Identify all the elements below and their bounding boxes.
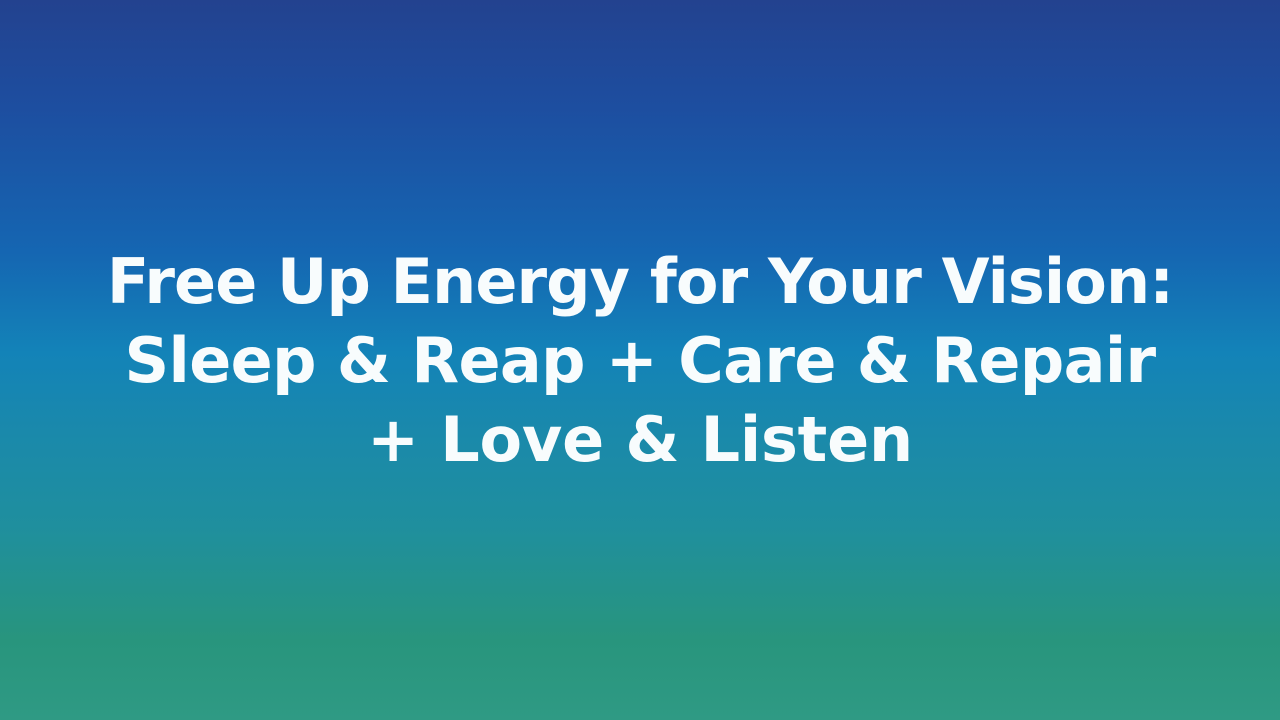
- page-title: Free Up Energy for Your Vision: Sleep & …: [90, 242, 1190, 479]
- headline-line-1: Free Up Energy for Your Vision:: [90, 242, 1190, 321]
- headline-line-2: Sleep & Reap + Care & Repair: [90, 321, 1190, 400]
- slide-canvas: Free Up Energy for Your Vision: Sleep & …: [0, 0, 1280, 720]
- headline-line-3: + Love & Listen: [90, 400, 1190, 479]
- headline-block: Free Up Energy for Your Vision: Sleep & …: [0, 0, 1280, 720]
